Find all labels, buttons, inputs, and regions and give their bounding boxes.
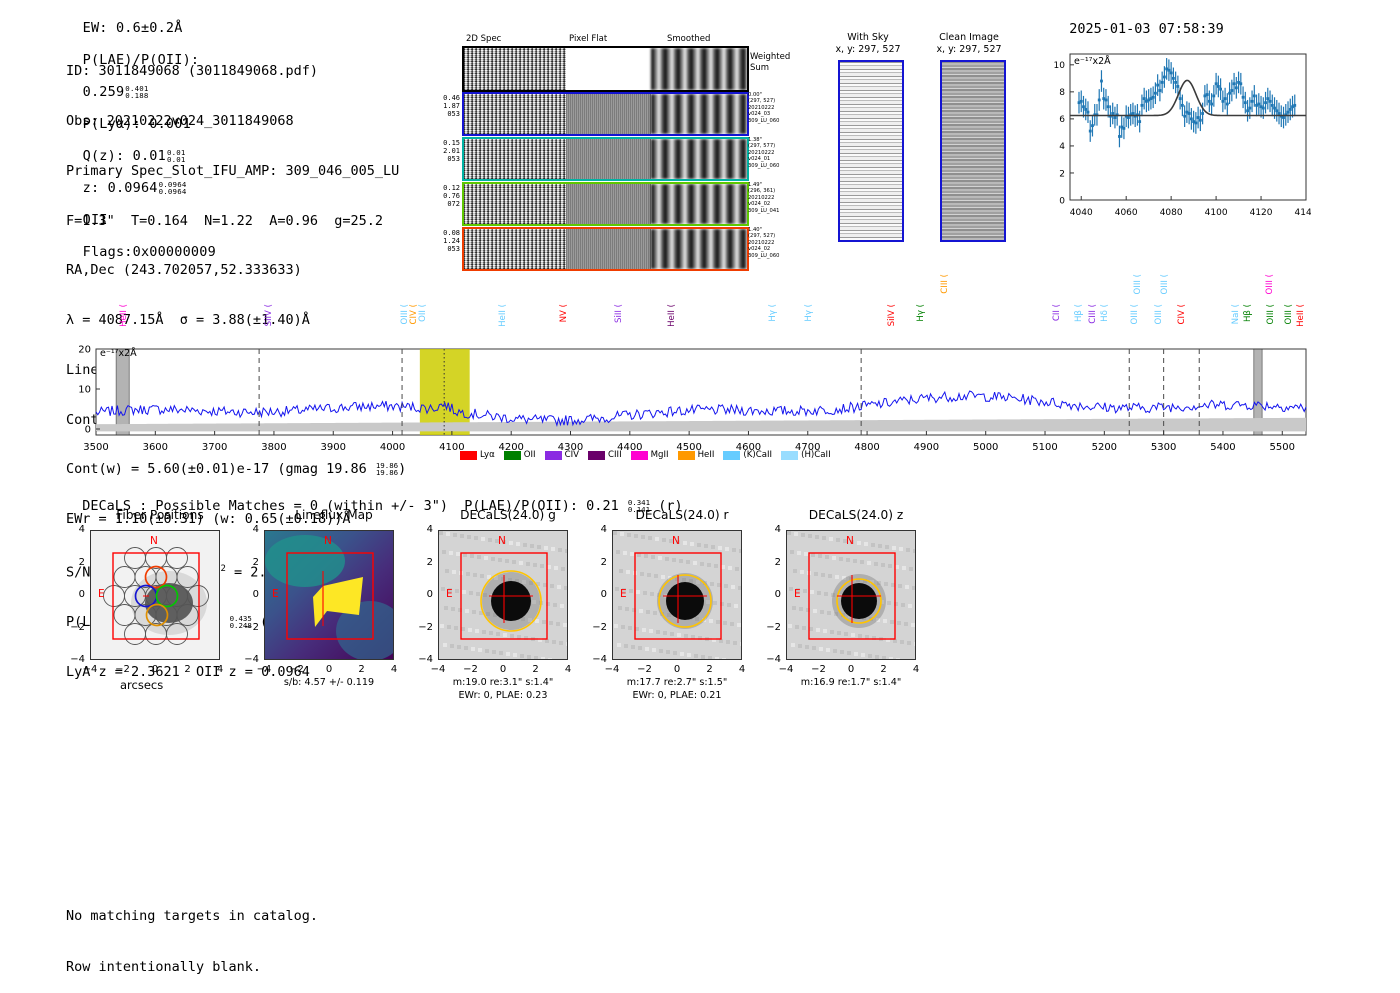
line-marker-oiii-26: OIII ( [1265, 274, 1275, 294]
with-sky-image [838, 60, 904, 242]
legend-item-kcaii: (K)CaII [723, 450, 772, 460]
line-marker-h-12: Hγ ( [916, 304, 926, 322]
cutout-0-xtick-1: −2 [114, 664, 132, 675]
svg-text:10: 10 [78, 385, 91, 396]
spec2d-title-pixelflat: Pixel Flat [569, 34, 607, 44]
clean-image [940, 60, 1006, 242]
legend-swatch [504, 451, 521, 460]
cutout-2-xtick-3: 2 [527, 664, 545, 675]
cutout-2-caption-2: EWr: 0, PLAE: 0.23 [408, 690, 598, 702]
cutout-1-caption-1: s/b: 4.57 +/- 0.119 [234, 677, 424, 689]
svg-text:6: 6 [1059, 115, 1065, 125]
cutout-3-caption-2: EWr: 0, PLAE: 0.21 [582, 690, 772, 702]
svg-text:5100: 5100 [1032, 442, 1057, 453]
spec2d-row-3-meta: 1.40"(297, 527)20210222v024_02309_LU_060 [748, 227, 794, 259]
svg-text:4120: 4120 [1250, 208, 1273, 218]
cutout-3-ytick-2: 0 [590, 589, 607, 600]
thumb-0-caption: With Skyx, y: 297, 527 [823, 32, 913, 55]
svg-text:20: 20 [78, 345, 91, 356]
cutout-3-ytick-1: 2 [590, 557, 607, 568]
cutout-image-0[interactable] [90, 530, 220, 660]
cutout-1-ytick-3: −2 [242, 622, 259, 633]
svg-text:4800: 4800 [854, 442, 879, 453]
cutout-4-xtick-3: 2 [875, 664, 893, 675]
svg-text:0: 0 [1059, 196, 1065, 206]
cutout-4-xtick-2: 0 [842, 664, 860, 675]
line-marker-siii-7: SiII ( [614, 304, 624, 323]
svg-text:4040: 4040 [1070, 208, 1093, 218]
info-line-id: ID: 3011849068 (3011849068.pdf) [66, 63, 406, 80]
cutout-title-2: DECaLS(24.0) g [428, 508, 588, 522]
legend-swatch [588, 451, 605, 460]
legend-swatch [631, 451, 648, 460]
spec2d-title-2dspec: 2D Spec [466, 34, 501, 44]
line-marker-ciii-13: CIII ( [940, 274, 950, 294]
legend-label: MgII [651, 450, 669, 460]
legend-swatch [678, 451, 695, 460]
legend-swatch [545, 451, 562, 460]
line-marker-siiv-11: SiIV ( [887, 304, 897, 326]
legend-swatch [723, 451, 740, 460]
legend-item-ly: Lyα [460, 450, 495, 460]
cutout-0-xtick-3: 2 [179, 664, 197, 675]
cutout-2-ytick-3: −2 [416, 622, 433, 633]
svg-text:4060: 4060 [1115, 208, 1138, 218]
compass-north-2: N [498, 535, 506, 547]
cutout-4-xtick-0: −4 [777, 664, 795, 675]
svg-text:10: 10 [1054, 61, 1066, 71]
cutout-4-ytick-3: −2 [764, 622, 781, 633]
svg-text:2: 2 [1059, 169, 1065, 179]
spectrum-legend: LyαOIICIVCIIIMgIIHeII(K)CaII(H)CaII [460, 450, 840, 460]
cutout-image-2[interactable] [438, 530, 568, 660]
legend-item-heii: HeII [678, 450, 715, 460]
legend-label: Lyα [480, 450, 495, 460]
compass-north-3: N [672, 535, 680, 547]
footer-line-2: Row intentionally blank. [66, 959, 318, 976]
svg-text:3700: 3700 [202, 442, 227, 453]
spectrum-unit-annotation: e⁻¹⁷x2Å [100, 348, 137, 359]
spec2d-title-smoothed: Smoothed [667, 34, 710, 44]
line-marker-oiii-22: OIII ( [1160, 274, 1170, 294]
svg-text:0: 0 [85, 425, 91, 436]
legend-label: CIV [565, 450, 579, 460]
legend-item-civ: CIV [545, 450, 579, 460]
svg-text:4140: 4140 [1295, 208, 1311, 218]
line-marker-oiii-25: OIII ( [1266, 304, 1276, 324]
cutout-0-ytick-0: 4 [68, 524, 85, 535]
svg-text:5000: 5000 [973, 442, 998, 453]
svg-text:5200: 5200 [1092, 442, 1117, 453]
line-marker-h-9: Hγ ( [768, 304, 778, 322]
spec2d-row-3-values: 0.081.24053 [434, 229, 460, 254]
spec2d-weighted-sum-strip [462, 46, 749, 92]
cutout-1-ytick-1: 2 [242, 557, 259, 568]
spec2d-row-1-values: 0.152.01053 [434, 139, 460, 164]
cutout-0-ytick-1: 2 [68, 557, 85, 568]
spec2d-row-0-meta: 0.00"(297, 527)20210222v024_03309_LU_060 [748, 92, 794, 124]
legend-item-mgii: MgII [631, 450, 669, 460]
cutout-2-xtick-2: 0 [494, 664, 512, 675]
line-marker-heii-5: HeII ( [498, 304, 508, 327]
line-marker-oiii-19: OIII ( [1154, 304, 1164, 324]
zoom-chart-svg: 0246810 404040604080410041204140 [1036, 48, 1311, 238]
line-marker-oii-4: OII ( [418, 304, 428, 322]
spec2d-row-1-meta: 1.38"(297, 577)20210222v024_01309_LU_060 [748, 137, 794, 169]
emission-line-labels: HeII (SiIV (OIII (CIV (OII (HeII (NV (Si… [70, 270, 1330, 348]
cutout-1-xtick-3: 2 [353, 664, 371, 675]
full-spectrum-chart: HeII (SiIV (OIII (CIV (OII (HeII (NV (Si… [70, 270, 1330, 470]
spec2d-row-2-values: 0.120.76072 [434, 184, 460, 209]
line-marker-ciii-16: CIII ( [1088, 304, 1098, 324]
line-marker-oiii-21: OIII ( [1133, 274, 1143, 294]
compass-east-3: E [620, 588, 627, 600]
legend-swatch [460, 451, 477, 460]
footer-line-1: No matching targets in catalog. [66, 908, 318, 925]
legend-label: (H)CaII [801, 450, 831, 460]
svg-text:5300: 5300 [1151, 442, 1176, 453]
line-marker-heii-0: HeII ( [119, 304, 129, 327]
cutout-4-ytick-0: 4 [764, 524, 781, 535]
cutout-3-caption-1: m:17.7 re:2.7" s:1.5" [582, 677, 772, 689]
cutout-2-xtick-1: −2 [462, 664, 480, 675]
svg-text:3800: 3800 [261, 442, 286, 453]
svg-text:3600: 3600 [143, 442, 168, 453]
line-marker-civ-20: CIV ( [1177, 304, 1187, 325]
cutout-0-ytick-2: 0 [68, 589, 85, 600]
cutout-0-ytick-3: −2 [68, 622, 85, 633]
cutout-3-xtick-0: −4 [603, 664, 621, 675]
cutout-1-ytick-0: 4 [242, 524, 259, 535]
line-marker-heii-8: HeII ( [667, 304, 677, 327]
svg-text:4900: 4900 [914, 442, 939, 453]
cutout-3-xtick-2: 0 [668, 664, 686, 675]
cutout-1-xtick-0: −4 [255, 664, 273, 675]
cutout-image-3[interactable] [612, 530, 742, 660]
line-marker-oiii-27: OIII ( [1284, 304, 1294, 324]
cutout-3-xtick-1: −2 [636, 664, 654, 675]
cutout-title-1: Lineflux Map [254, 508, 414, 522]
compass-east-4: E [794, 588, 801, 600]
line-marker-nv-6: NV ( [559, 304, 569, 322]
spec2d-panel: 2D Spec Pixel Flat Smoothed WeightedSum … [434, 34, 764, 254]
info-line-seeing: F=1.3" T=0.164 N=1.22 A=0.96 g=25.2 [66, 213, 406, 230]
legend-swatch [781, 451, 798, 460]
cutout-2-ytick-0: 4 [416, 524, 433, 535]
spec2d-row-0-values: 0.461.87053 [434, 94, 460, 119]
legend-item-oii: OII [504, 450, 536, 460]
legend-item-ciii: CIII [588, 450, 622, 460]
cutout-4-ytick-2: 0 [764, 589, 781, 600]
timestamp-text: 2025-01-03 07:58:39 [1069, 21, 1223, 37]
cutout-0-xtick-4: 4 [211, 664, 229, 675]
cutout-panels: Fiber PositionsNE420−2−4−4−2024arcsecsLi… [60, 508, 1060, 738]
cutout-3-xtick-3: 2 [701, 664, 719, 675]
cutout-4-ytick-1: 2 [764, 557, 781, 568]
line-marker-siiv-1: SiIV ( [264, 304, 274, 326]
footer-note: No matching targets in catalog. Row inte… [66, 874, 318, 993]
line-marker-h-15: Hβ ( [1074, 304, 1084, 322]
zoom-chart-unit-annotation: e⁻¹⁷x2Å [1074, 56, 1111, 67]
svg-text:4000: 4000 [380, 442, 405, 453]
cutout-title-0: Fiber Positions [80, 508, 240, 522]
compass-east-1: E [272, 588, 279, 600]
cutout-3-ytick-3: −2 [590, 622, 607, 633]
svg-text:5400: 5400 [1210, 442, 1235, 453]
compass-north-0: N [150, 535, 158, 547]
cutout-1-xtick-1: −2 [288, 664, 306, 675]
cutout-2-xtick-0: −4 [429, 664, 447, 675]
compass-north-4: N [846, 535, 854, 547]
thumb-1-caption: Clean Imagex, y: 297, 527 [924, 32, 1014, 55]
cutout-2-ytick-1: 2 [416, 557, 433, 568]
compass-east-0: E [98, 588, 105, 600]
spec2d-weighted-sum-label: WeightedSum [750, 52, 796, 74]
cutout-4-xtick-1: −2 [810, 664, 828, 675]
cutout-0-xtick-2: 0 [146, 664, 164, 675]
svg-text:3500: 3500 [83, 442, 108, 453]
svg-text:3900: 3900 [321, 442, 346, 453]
cutout-1-xtick-2: 0 [320, 664, 338, 675]
cutout-0-xtick-0: −4 [81, 664, 99, 675]
line-marker-heii-28: HeII ( [1296, 304, 1306, 327]
svg-text:4080: 4080 [1160, 208, 1183, 218]
svg-text:4100: 4100 [1205, 208, 1228, 218]
line-marker-h-17: Hδ ( [1100, 304, 1110, 322]
svg-text:8: 8 [1059, 88, 1065, 98]
info-line-obs: Obs: 20210222v024_3011849068 [66, 113, 406, 130]
legend-label: HeII [698, 450, 715, 460]
cutout-3-xtick-4: 4 [733, 664, 751, 675]
cutout-4-xtick-4: 4 [907, 664, 925, 675]
cutout-4-caption-1: m:16.9 re:1.7" s:1.4" [756, 677, 946, 689]
cutout-2-xtick-4: 4 [559, 664, 577, 675]
legend-label: OII [524, 450, 536, 460]
legend-label: (K)CaII [743, 450, 772, 460]
cutout-image-4[interactable] [786, 530, 916, 660]
line-marker-nai-23: NaI ( [1231, 304, 1241, 324]
info-line-primary-spec: Primary Spec_Slot_IFU_AMP: 309_046_005_L… [66, 163, 406, 180]
spec2d-row-2-meta: 1.49"(296, 361)20210222v024_02309_LU_041 [748, 182, 794, 214]
cutout-1-xtick-4: 4 [385, 664, 403, 675]
emission-line-zoom-chart: 0246810 404040604080410041204140 e⁻¹⁷x2Å [1036, 48, 1311, 238]
legend-label: CIII [608, 450, 622, 460]
svg-text:5500: 5500 [1270, 442, 1295, 453]
cutout-0-xlabel: arcsecs [120, 678, 163, 692]
cutout-2-ytick-2: 0 [416, 589, 433, 600]
cutout-1-ytick-2: 0 [242, 589, 259, 600]
line-marker-cii-14: CII ( [1052, 304, 1062, 321]
cutout-title-3: DECaLS(24.0) r [602, 508, 762, 522]
svg-text:4: 4 [1059, 142, 1065, 152]
full-spectrum-svg: 01020 3500360037003800390040004100420043… [70, 345, 1330, 465]
legend-item-hcaii: (H)CaII [781, 450, 831, 460]
cutout-2-caption-1: m:19.0 re:3.1" s:1.4" [408, 677, 598, 689]
cutout-image-1[interactable] [264, 530, 394, 660]
line-marker-h-10: Hγ ( [804, 304, 814, 322]
cutout-3-ytick-0: 4 [590, 524, 607, 535]
line-marker-oiii-18: OIII ( [1130, 304, 1140, 324]
compass-north-1: N [324, 535, 332, 547]
line-marker-h-24: Hβ ( [1243, 304, 1253, 322]
compass-east-2: E [446, 588, 453, 600]
cutout-title-4: DECaLS(24.0) z [776, 508, 936, 522]
